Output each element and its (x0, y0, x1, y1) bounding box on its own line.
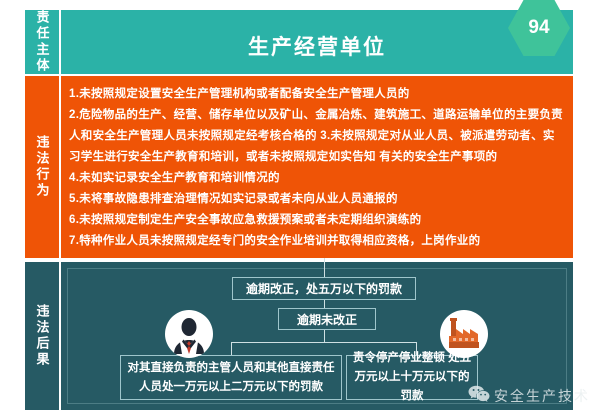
box-overdue-fix: 逾期改正，处五万以下的罚款 (232, 277, 416, 300)
violation-item: 6.未按照规定制定生产安全事故应急救援预案或者未定期组织演练的 (69, 210, 563, 231)
number-badge-value: 94 (528, 17, 549, 39)
row-label-consequences-text: 违法后果 (36, 304, 49, 368)
row-label-violations: 违法行为 (25, 76, 59, 258)
person-icon (165, 310, 213, 358)
wechat-icon (468, 385, 490, 407)
header-band: 生产经营单位 (61, 10, 573, 74)
connector-mid (324, 300, 325, 308)
row-label-subject: 责任主体 (25, 10, 59, 74)
violation-item: 2.危险物品的生产、经营、储存单位以及矿山、金属冶炼、建筑施工、道路运输单位的主… (69, 105, 563, 168)
watermark: 安全生产技术 (468, 385, 590, 407)
connector-top (324, 258, 325, 277)
page-title: 生产经营单位 (248, 31, 386, 61)
box-company-penalty: 责令停产停业整顿 处五万元以上十万元以下的罚款 (346, 355, 478, 400)
row-label-violations-text: 违法行为 (36, 135, 49, 199)
watermark-text: 安全生产技术 (494, 386, 590, 406)
violation-item: 4.未如实记录安全生产教育和培训情况的 (69, 168, 563, 189)
factory-icon (440, 310, 488, 358)
violation-item: 1.未按照规定设置安全生产管理机构或者配备安全生产管理人员的 (69, 84, 563, 105)
infographic-page: 责任主体 生产经营单位 94 违法行为 1.未按照规定设置安全生产管理机构或者配… (0, 0, 600, 415)
connector-left-branch (231, 342, 232, 355)
box-person-penalty: 对其直接负责的主管人员和其他直接责任人员处一万元以上二万元以下的罚款 (120, 355, 342, 400)
row-label-subject-text: 责任主体 (36, 10, 49, 74)
violations-panel: 1.未按照规定设置安全生产管理机构或者配备安全生产管理人员的 2.危险物品的生产… (61, 76, 573, 258)
connector-split (231, 342, 417, 343)
box-not-fixed: 逾期未改正 (278, 308, 376, 330)
violation-item: 7.特种作业人员未按照规定经专门的安全作业培训并取得相应资格，上岗作业的 (69, 231, 563, 252)
row-label-consequences: 违法后果 (25, 262, 59, 410)
connector-down (324, 330, 325, 342)
violation-item: 5.未将事故隐患排查治理情况如实记录或者未向从业人员通报的 (69, 189, 563, 210)
